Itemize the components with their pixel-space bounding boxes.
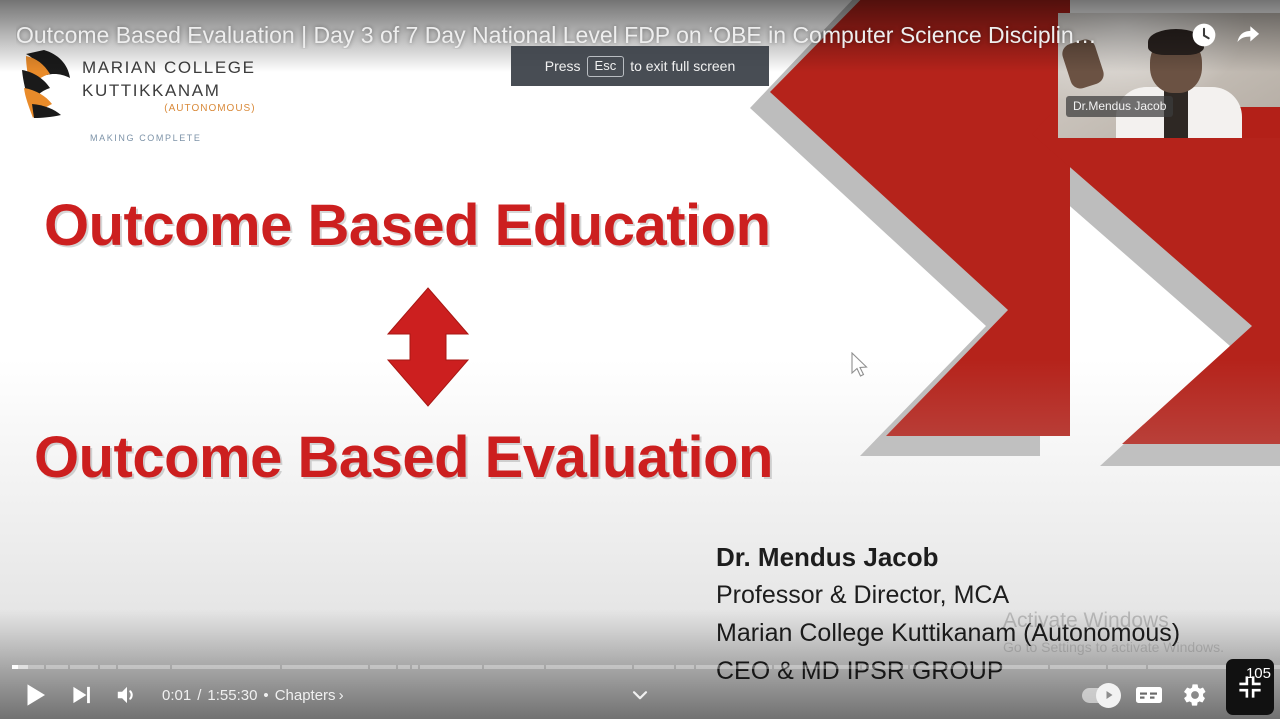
progress-chapter-segment[interactable] [1050, 665, 1106, 669]
chevron-down-icon [629, 684, 651, 706]
volume-button[interactable] [104, 671, 150, 719]
progress-played [12, 665, 18, 669]
progress-chapter-segment[interactable] [696, 665, 772, 669]
play-button[interactable] [12, 671, 58, 719]
subtitles-button[interactable] [1126, 671, 1172, 719]
next-track-icon [68, 682, 94, 708]
progress-chapter-segment[interactable] [676, 665, 694, 669]
progress-chapter-segment[interactable] [398, 665, 410, 669]
webcam-name-label: Dr.Mendus Jacob [1066, 96, 1173, 117]
credential-line: Marian College Kuttikanam (Autonomous) [716, 614, 1180, 652]
progress-chapter-segment[interactable] [774, 665, 860, 669]
slide-heading-bottom: Outcome Based Evaluation [34, 424, 773, 491]
chapters-label: Chapters [275, 687, 336, 704]
progress-chapter-segment[interactable] [1148, 665, 1238, 669]
watch-later-button[interactable] [1182, 16, 1226, 54]
progress-chapter-segment[interactable] [910, 665, 972, 669]
progress-chapter-segment[interactable] [172, 665, 280, 669]
autoplay-knob [1096, 683, 1121, 708]
logo-line-2: KUTTIKKANAM [82, 79, 256, 102]
video-progress-bar[interactable] [0, 663, 1280, 671]
esc-notice-prefix: Press [545, 58, 581, 74]
progress-chapter-segment[interactable] [634, 665, 674, 669]
progress-chapter-segment[interactable] [484, 665, 544, 669]
progress-chapter-segment[interactable] [100, 665, 116, 669]
progress-chapter-segment[interactable] [1108, 665, 1146, 669]
volume-icon [114, 682, 140, 708]
time-separator: / [197, 687, 201, 704]
chapters-link[interactable]: Chapters › [275, 687, 344, 704]
share-icon [1234, 21, 1262, 49]
progress-chapter-segment[interactable] [12, 665, 44, 669]
progress-chapter-segment[interactable] [46, 665, 68, 669]
current-time: 0:01 [162, 687, 191, 704]
logo-line-1: MARIAN COLLEGE [82, 56, 256, 79]
play-small-icon [1103, 689, 1115, 701]
cursor-position-badge: 105 [1226, 659, 1274, 715]
credential-line: Dr. Mendus Jacob [716, 538, 1180, 576]
progress-chapter-segment[interactable] [862, 665, 908, 669]
progress-chapter-segment[interactable] [118, 665, 170, 669]
video-title[interactable]: Outcome Based Evaluation | Day 3 of 7 Da… [16, 22, 1097, 49]
esc-notice-suffix: to exit full screen [630, 58, 735, 74]
logo-autonomous: (AUTONOMOUS) [82, 103, 256, 114]
progress-chapter-segment[interactable] [282, 665, 368, 669]
college-logo: MARIAN COLLEGE KUTTIKKANAM (AUTONOMOUS) … [10, 48, 270, 158]
esc-key-badge: Esc [587, 56, 625, 77]
cursor-position-value: 105 [1246, 666, 1271, 681]
time-display: 0:01 / 1:55:30 • Chapters › [162, 687, 344, 704]
college-logo-text: MARIAN COLLEGE KUTTIKKANAM (AUTONOMOUS) [82, 56, 256, 114]
slide-heading-top: Outcome Based Education [44, 192, 771, 259]
chapters-chevron-icon: › [339, 687, 344, 704]
more-chevron-button[interactable] [620, 671, 660, 719]
closed-captions-icon [1134, 680, 1164, 710]
progress-chapter-segment[interactable] [420, 665, 482, 669]
share-button[interactable] [1226, 16, 1270, 54]
progress-chapter-segment[interactable] [412, 665, 418, 669]
logo-tagline: MAKING COMPLETE [90, 133, 202, 143]
progress-chapter-segment[interactable] [70, 665, 98, 669]
marian-logo-mark [14, 48, 76, 118]
settings-button[interactable] [1172, 671, 1218, 719]
youtube-fullscreen-player[interactable]: MARIAN COLLEGE KUTTIKKANAM (AUTONOMOUS) … [0, 0, 1280, 719]
progress-chapter-segment[interactable] [974, 665, 1048, 669]
progress-chapter-segment[interactable] [370, 665, 396, 669]
progress-chapter-segment[interactable] [546, 665, 632, 669]
time-dot: • [263, 687, 268, 704]
gear-icon [1182, 682, 1208, 708]
play-icon [20, 680, 50, 710]
next-video-button[interactable] [58, 671, 104, 719]
video-duration: 1:55:30 [207, 687, 257, 704]
clock-icon [1191, 22, 1217, 48]
double-arrow-vertical-icon [384, 286, 472, 408]
autoplay-pill [1082, 688, 1116, 703]
credential-line: Professor & Director, MCA [716, 576, 1180, 614]
exit-fullscreen-notice: Press Esc to exit full screen [511, 46, 769, 86]
autoplay-toggle[interactable] [1072, 671, 1126, 719]
